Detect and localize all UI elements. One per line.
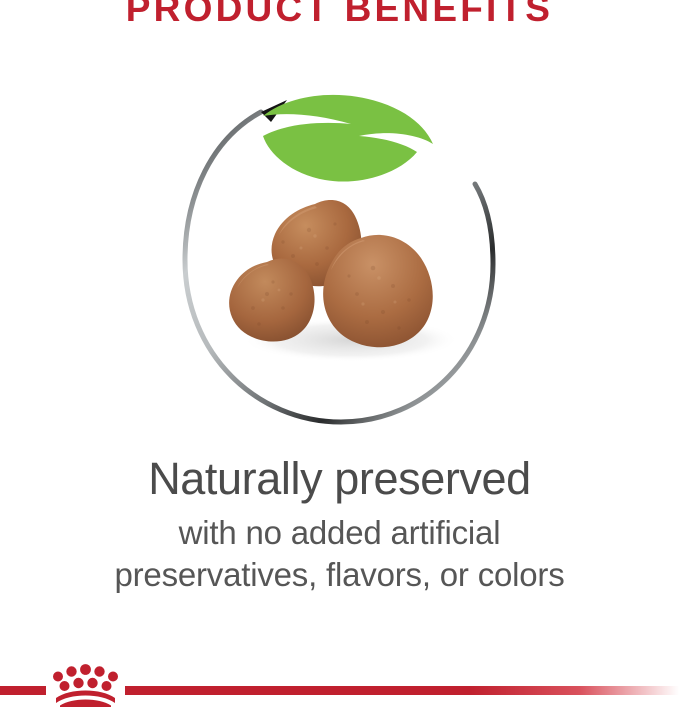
footer-rule-left — [0, 686, 46, 695]
benefit-copy: Naturally preserved with no added artifi… — [0, 452, 679, 596]
royal-canin-crown-icon — [46, 661, 125, 707]
footer-rule-right — [125, 686, 679, 695]
page-title: PRODUCT BENEFITS — [126, 0, 553, 32]
page-header: PRODUCT BENEFITS — [0, 0, 679, 32]
leaf-icon — [247, 88, 437, 188]
brand-footer — [0, 645, 679, 707]
kibble-illustration — [223, 190, 459, 362]
benefit-illustration-inner — [175, 92, 505, 432]
benefit-headline: Naturally preserved — [0, 452, 679, 506]
benefit-subline-2: preservatives, flavors, or colors — [0, 554, 679, 596]
benefit-illustration — [0, 92, 679, 442]
benefit-subline-1: with no added artificial — [0, 512, 679, 554]
